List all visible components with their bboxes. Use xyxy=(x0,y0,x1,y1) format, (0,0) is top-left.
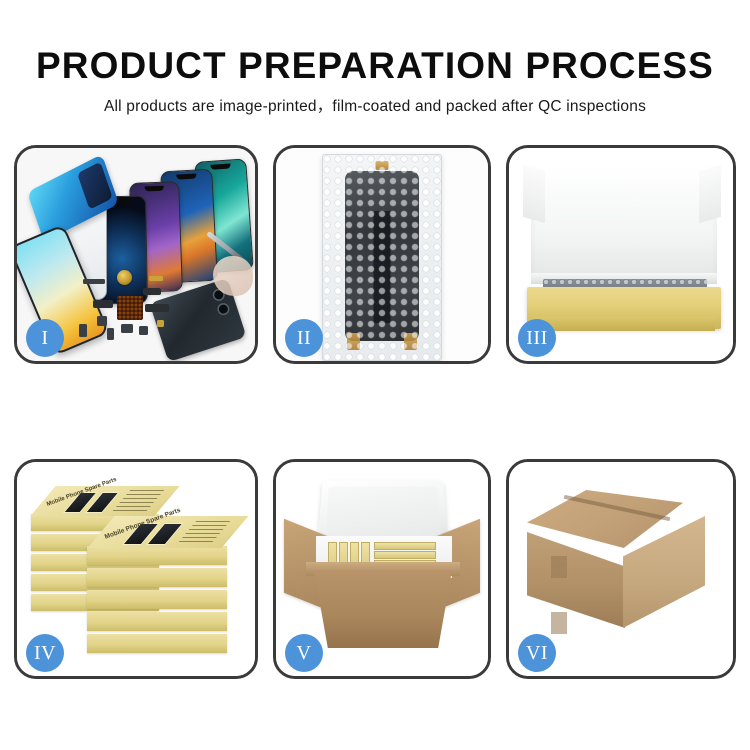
box-print-spec-lines xyxy=(112,490,164,512)
spare-part xyxy=(107,328,114,340)
spare-part xyxy=(79,324,87,337)
box-layer xyxy=(87,612,227,631)
packed-box xyxy=(374,551,436,559)
spare-part-gold xyxy=(157,320,164,327)
box-print-spec-lines xyxy=(178,521,230,543)
gold-connector-tab xyxy=(404,333,417,350)
gold-connector-tab xyxy=(376,161,389,170)
carton-tape xyxy=(551,556,567,578)
notch-icon xyxy=(176,174,196,180)
flex-cable-part xyxy=(93,300,113,308)
step-badge-3: III xyxy=(518,319,556,357)
hand-graphic xyxy=(213,256,253,296)
spare-part-gold xyxy=(149,276,163,281)
foam-back-panel xyxy=(531,166,717,284)
spare-part xyxy=(139,326,148,335)
process-steps-grid: I II III xyxy=(14,145,736,679)
step-badge-6: VI xyxy=(518,634,556,672)
notch-icon xyxy=(210,163,230,169)
step-panel-3[interactable]: III xyxy=(506,145,736,364)
step-panel-5[interactable]: V xyxy=(273,459,491,679)
carton-body xyxy=(314,570,452,648)
notch-icon xyxy=(145,186,164,192)
spare-part xyxy=(121,324,133,333)
camera-lens-icon xyxy=(218,303,229,314)
step-panel-1[interactable]: I xyxy=(14,145,258,364)
step-badge-1: I xyxy=(26,319,64,357)
spare-part xyxy=(83,279,105,284)
box-lid-left xyxy=(523,165,545,223)
box-layer xyxy=(87,634,227,653)
step-panel-4[interactable]: Mobile Phone Spare Parts Mobile Phone Sp… xyxy=(14,459,258,679)
page-subtitle: All products are image-printed，film-coat… xyxy=(0,88,750,117)
carton-tape xyxy=(551,612,567,634)
box-layer xyxy=(87,546,227,565)
bubble-wrap-bag xyxy=(322,154,442,361)
box-lid-right xyxy=(699,165,721,223)
speaker-part xyxy=(117,270,132,285)
flex-cable-part xyxy=(145,304,169,312)
flex-cable-part xyxy=(143,288,161,295)
step-panel-6[interactable]: VI xyxy=(506,459,736,679)
step-badge-5: V xyxy=(285,634,323,672)
yellow-box-front xyxy=(533,317,715,331)
flex-cable-strip xyxy=(374,211,391,323)
spare-part xyxy=(97,316,107,326)
box-layer xyxy=(87,568,227,587)
chip-grid-part xyxy=(117,296,143,320)
gold-connector-tab xyxy=(347,333,360,350)
packed-box xyxy=(374,542,436,550)
step-badge-4: IV xyxy=(26,634,64,672)
page-title: PRODUCT PREPARATION PROCESS xyxy=(0,0,750,88)
step-badge-2: II xyxy=(285,319,323,357)
page-header: PRODUCT PREPARATION PROCESS All products… xyxy=(0,0,750,117)
step-panel-2[interactable]: II xyxy=(273,145,491,364)
box-layer xyxy=(87,590,227,609)
